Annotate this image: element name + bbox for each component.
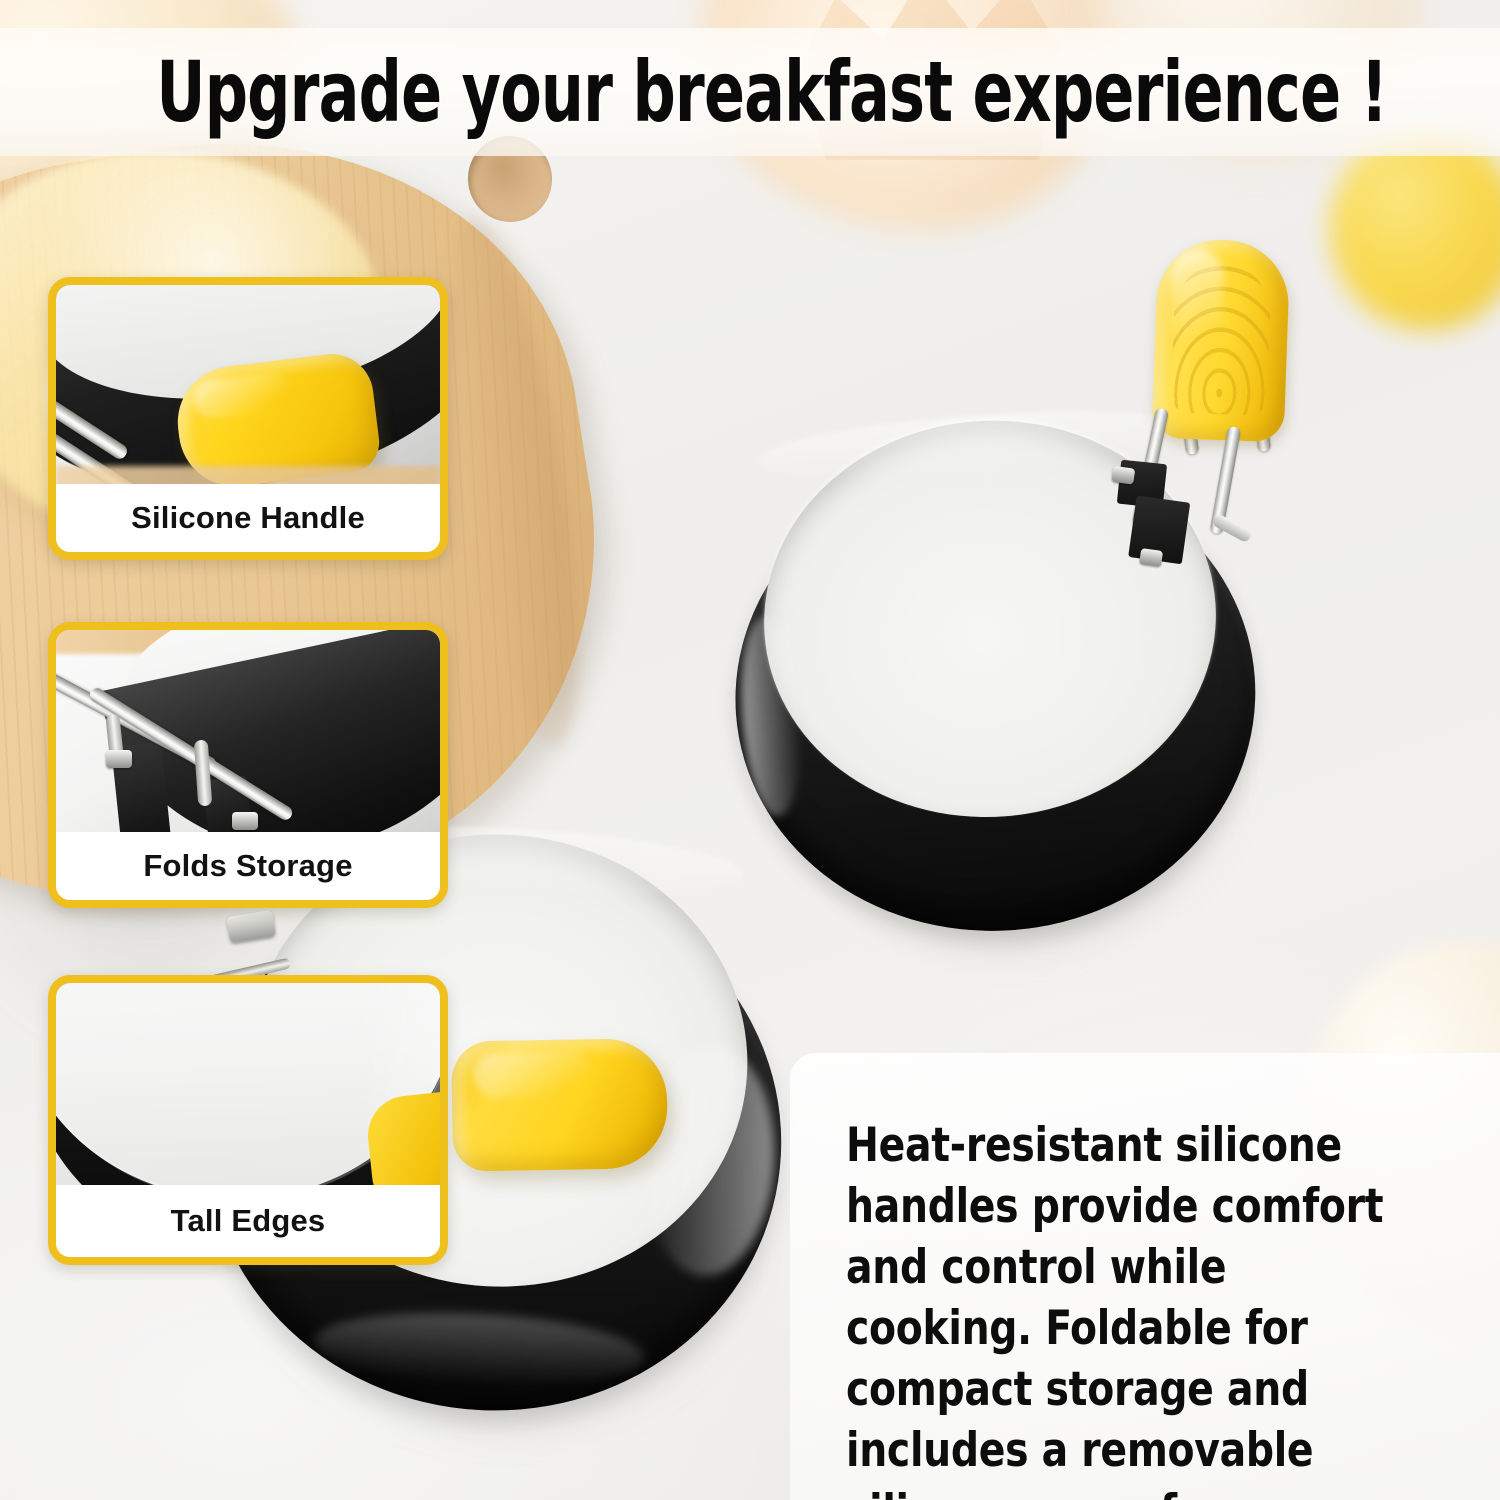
callout-photo-tall-edges	[56, 983, 440, 1185]
hinge-rivet-lower	[1139, 548, 1163, 567]
callout-1-grip-gloss	[193, 371, 293, 420]
background-yellow-accent	[1330, 130, 1500, 330]
product-feature-image: Upgrade your breakfast experience ! Sili…	[0, 0, 1500, 1500]
callout-label-silicone-handle: Silicone Handle	[56, 484, 440, 552]
callout-photo-folds-storage	[56, 630, 440, 832]
silicone-grip-folded	[451, 1038, 668, 1172]
feature-callout-tall-edges[interactable]: Tall Edges	[48, 975, 448, 1265]
page-title: Upgrade your breakfast experience !	[150, 43, 1350, 141]
silicone-grip-folded-gloss	[473, 1051, 594, 1097]
feature-callout-folds-storage[interactable]: Folds Storage	[48, 622, 448, 908]
callout-photo-silicone-handle	[56, 285, 440, 484]
folded-handle-clip	[226, 910, 276, 943]
headline-band: Upgrade your breakfast experience !	[0, 28, 1500, 156]
callout-2-rivet-left	[106, 750, 132, 768]
callout-2-rivet-right	[232, 812, 258, 830]
callout-1-wood-edge	[56, 466, 440, 484]
description-panel: Heat-resistant silicone handles provide …	[790, 1053, 1500, 1500]
silicone-grip-gloss	[1168, 248, 1224, 370]
hinge-rivet-upper	[1111, 466, 1135, 485]
cutting-board-edge-shadow	[425, 208, 604, 756]
handle-wire-joint-right	[1212, 513, 1253, 543]
description-text: Heat-resistant silicone handles provide …	[846, 1115, 1413, 1500]
feature-callout-silicone-handle[interactable]: Silicone Handle	[48, 277, 448, 560]
callout-label-folds-storage: Folds Storage	[56, 832, 440, 900]
silicone-grip-upright	[1152, 238, 1291, 442]
callout-label-tall-edges: Tall Edges	[56, 1185, 440, 1257]
